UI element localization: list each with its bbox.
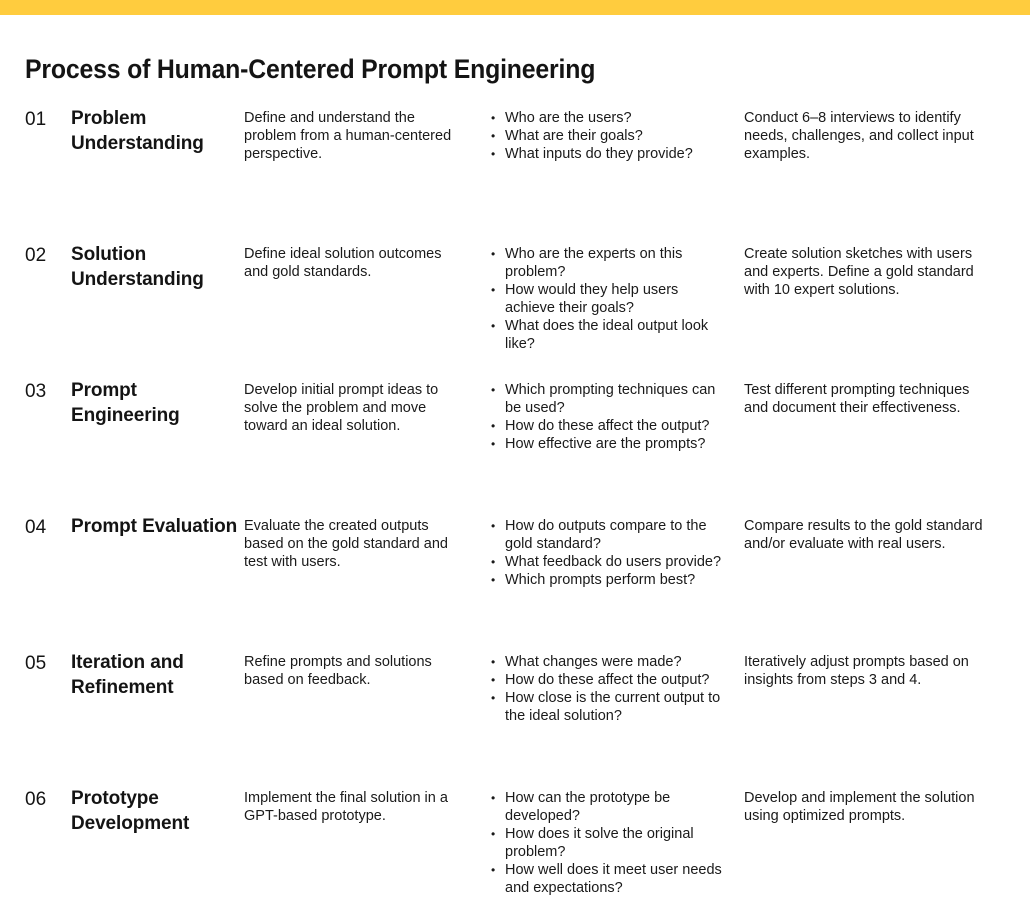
question-list: What changes were made?How do these affe… bbox=[490, 653, 728, 725]
question-list: Who are the users?What are their goals?W… bbox=[490, 109, 728, 163]
step-title: Problem Understanding bbox=[71, 106, 239, 156]
step-questions: Which prompting techniques can be used?H… bbox=[490, 381, 728, 453]
step-description: Evaluate the created outputs based on th… bbox=[244, 517, 466, 571]
step-number: 05 bbox=[25, 652, 67, 675]
question-list: Who are the experts on this problem?How … bbox=[490, 245, 728, 353]
step-number: 06 bbox=[25, 788, 67, 811]
process-step-row: 01Problem UnderstandingDefine and unders… bbox=[0, 100, 1030, 236]
question-list: How can the prototype be developed?How d… bbox=[490, 789, 728, 897]
step-questions: Who are the users?What are their goals?W… bbox=[490, 109, 728, 163]
question-item: Which prompts perform best? bbox=[490, 571, 728, 589]
step-questions: How do outputs compare to the gold stand… bbox=[490, 517, 728, 589]
question-item: How do outputs compare to the gold stand… bbox=[490, 517, 728, 553]
step-action: Conduct 6–8 interviews to identify needs… bbox=[744, 109, 996, 163]
step-questions: What changes were made?How do these affe… bbox=[490, 653, 728, 725]
step-number: 02 bbox=[25, 244, 67, 267]
question-item: How well does it meet user needs and exp… bbox=[490, 861, 728, 897]
question-item: What changes were made? bbox=[490, 653, 728, 671]
question-item: What does the ideal output look like? bbox=[490, 317, 728, 353]
step-title: Solution Understanding bbox=[71, 242, 239, 292]
accent-top-bar bbox=[0, 0, 1030, 15]
question-item: How close is the current output to the i… bbox=[490, 689, 728, 725]
page-title: Process of Human-Centered Prompt Enginee… bbox=[25, 54, 595, 85]
question-item: How effective are the prompts? bbox=[490, 435, 728, 453]
process-step-row: 03Prompt EngineeringDevelop initial prom… bbox=[0, 372, 1030, 508]
process-step-row: 02Solution UnderstandingDefine ideal sol… bbox=[0, 236, 1030, 372]
question-item: Who are the experts on this problem? bbox=[490, 245, 728, 281]
step-action: Iteratively adjust prompts based on insi… bbox=[744, 653, 996, 689]
step-number: 01 bbox=[25, 108, 67, 131]
step-description: Define and understand the problem from a… bbox=[244, 109, 466, 163]
question-item: How would they help users achieve their … bbox=[490, 281, 728, 317]
step-action: Compare results to the gold standard and… bbox=[744, 517, 996, 553]
step-description: Define ideal solution outcomes and gold … bbox=[244, 245, 466, 281]
question-item: What are their goals? bbox=[490, 127, 728, 145]
process-step-row: 06Prototype DevelopmentImplement the fin… bbox=[0, 780, 1030, 916]
process-step-row: 05Iteration and RefinementRefine prompts… bbox=[0, 644, 1030, 780]
question-item: How do these affect the output? bbox=[490, 417, 728, 435]
question-item: What inputs do they provide? bbox=[490, 145, 728, 163]
question-item: How can the prototype be developed? bbox=[490, 789, 728, 825]
step-title: Prototype Development bbox=[71, 786, 239, 836]
step-title: Prompt Engineering bbox=[71, 378, 239, 428]
step-action: Create solution sketches with users and … bbox=[744, 245, 996, 299]
question-item: Who are the users? bbox=[490, 109, 728, 127]
question-item: How do these affect the output? bbox=[490, 671, 728, 689]
question-item: What feedback do users provide? bbox=[490, 553, 728, 571]
process-steps-list: 01Problem UnderstandingDefine and unders… bbox=[0, 100, 1030, 916]
step-number: 04 bbox=[25, 516, 67, 539]
question-list: How do outputs compare to the gold stand… bbox=[490, 517, 728, 589]
step-description: Implement the final solution in a GPT-ba… bbox=[244, 789, 466, 825]
question-item: How does it solve the original problem? bbox=[490, 825, 728, 861]
step-questions: Who are the experts on this problem?How … bbox=[490, 245, 728, 353]
question-list: Which prompting techniques can be used?H… bbox=[490, 381, 728, 453]
step-description: Develop initial prompt ideas to solve th… bbox=[244, 381, 466, 435]
step-action: Test different prompting techniques and … bbox=[744, 381, 996, 417]
step-number: 03 bbox=[25, 380, 67, 403]
step-questions: How can the prototype be developed?How d… bbox=[490, 789, 728, 897]
step-action: Develop and implement the solution using… bbox=[744, 789, 996, 825]
question-item: Which prompting techniques can be used? bbox=[490, 381, 728, 417]
process-step-row: 04Prompt EvaluationEvaluate the created … bbox=[0, 508, 1030, 644]
step-description: Refine prompts and solutions based on fe… bbox=[244, 653, 466, 689]
step-title: Prompt Evaluation bbox=[71, 514, 239, 539]
step-title: Iteration and Refinement bbox=[71, 650, 239, 700]
